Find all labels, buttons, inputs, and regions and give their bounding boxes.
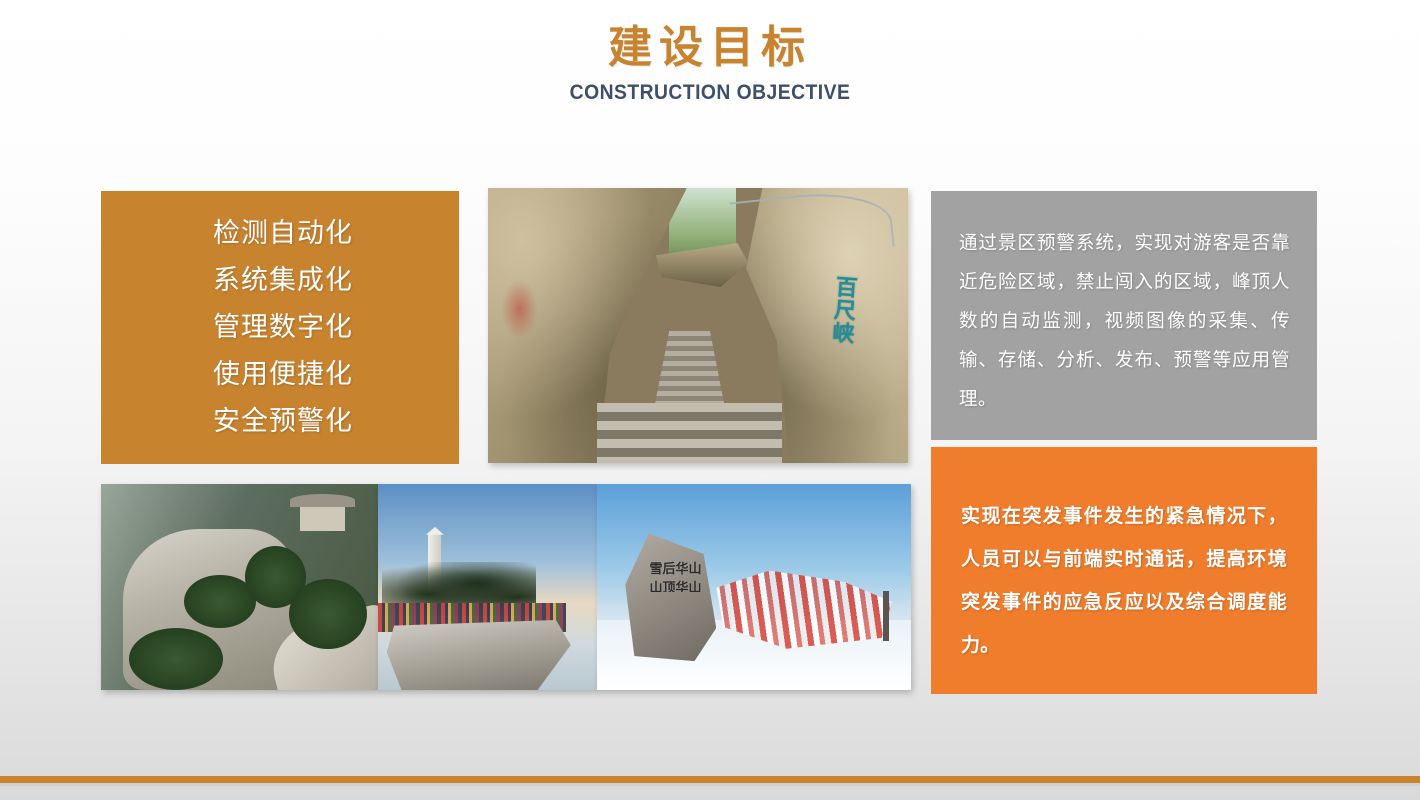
canyon-illustration: 百尺峡 — [488, 188, 908, 463]
description-text-orange: 实现在突发事件发生的紧急情况下，人员可以与前端实时通话，提高环境突发事件的应急反… — [961, 495, 1287, 667]
page-title: 建设目标 — [0, 22, 1420, 74]
goal-list-item: 系统集成化 — [213, 257, 353, 304]
description-panel-orange: 实现在突发事件发生的紧急情况下，人员可以与前端实时通话，提高环境突发事件的应急反… — [931, 447, 1317, 694]
goal-list-item: 检测自动化 — [213, 210, 353, 257]
goal-list-item: 管理数字化 — [213, 304, 353, 351]
page-subtitle: CONSTRUCTION OBJECTIVE — [57, 80, 1363, 106]
description-panel-gray: 通过景区预警系统，实现对游客是否靠近危险区域，禁止闯入的区域，峰顶人数的自动监测… — [931, 191, 1317, 440]
footer-divider — [0, 776, 1420, 783]
viewpoint-illustration — [378, 484, 597, 690]
pine-tree — [129, 628, 223, 690]
page-header: 建设目标 CONSTRUCTION OBJECTIVE — [0, 0, 1420, 125]
stele-inscription: 雪后华山山顶华山石碑与红丝带 — [647, 558, 704, 592]
pine-tree — [289, 579, 367, 649]
photo-sunrise-viewpoint — [378, 484, 597, 690]
red-paint-mark — [501, 279, 539, 340]
photo-snow-summit-stele: 雪后华山山顶华山石碑与红丝带 — [597, 484, 911, 690]
footer-divider-shadow — [0, 783, 1420, 786]
fence-post — [883, 591, 889, 640]
photo-canyon-stairway: 百尺峡 — [488, 188, 908, 463]
huashan-stele — [625, 533, 716, 661]
photo-mountain-pavilion — [101, 484, 378, 690]
snow-summit-illustration: 雪后华山山顶华山石碑与红丝带 — [597, 484, 911, 690]
peaks-illustration — [101, 484, 378, 690]
cliff-platform — [387, 620, 571, 690]
goal-list-item: 使用便捷化 — [213, 351, 353, 398]
description-text-gray: 通过景区预警系统，实现对游客是否靠近危险区域，禁止闯入的区域，峰顶人数的自动监测… — [959, 225, 1290, 420]
summit-pavilion — [300, 505, 344, 532]
stone-stairs-lower — [597, 403, 782, 464]
goal-list-item: 安全预警化 — [213, 398, 353, 445]
goal-list-panel: 检测自动化 系统集成化 管理数字化 使用便捷化 安全预警化 — [101, 191, 459, 464]
rock-inscription: 百尺峡 — [831, 275, 860, 346]
